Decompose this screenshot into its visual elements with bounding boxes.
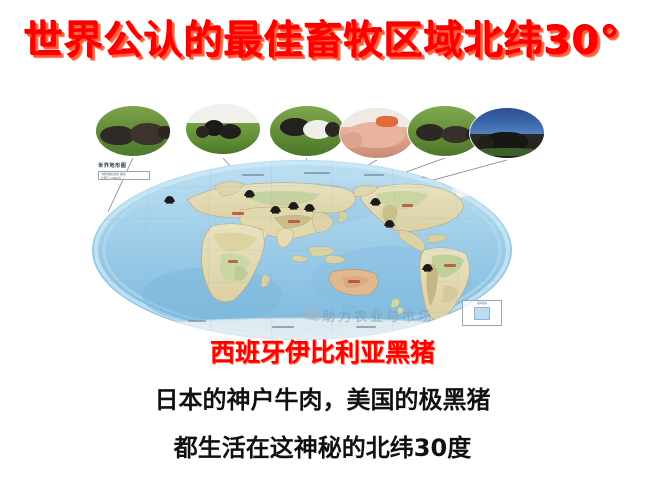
map-inset-graphic	[474, 307, 490, 320]
map-legend: 中国地图出版社 编制 比例尺 1:9000万	[98, 171, 150, 180]
map-caption: 世界地形图	[98, 162, 126, 169]
photo-pink-pig	[340, 108, 414, 158]
photo-foreground-shrub	[474, 148, 540, 156]
pig-head-shape	[344, 132, 362, 148]
pig-head-shape	[158, 126, 170, 139]
map-legend-line-2: 比例尺 1:9000万	[101, 177, 147, 181]
marker-asia-east-2-base	[290, 208, 297, 210]
pig-head-shape	[325, 122, 340, 137]
body-line-2: 日本的神户牛肉，美国的极黑猪	[0, 388, 645, 412]
marker-america-south-base	[424, 270, 431, 272]
pig-marking-shape	[376, 116, 398, 127]
marker-europe-central-base	[246, 196, 253, 198]
pig-body-shape	[100, 126, 134, 145]
pig-head-shape	[196, 126, 209, 138]
body-line-3: 都生活在这神秘的北纬30度	[0, 436, 645, 460]
marker-europe-west-base	[166, 202, 173, 204]
photo-pig-blue-sky	[470, 108, 544, 158]
watermark-text: 助力农业与市场	[322, 306, 434, 325]
photo-belted-pigs	[270, 106, 344, 156]
photo-black-piglets	[186, 104, 260, 154]
slide-root: 世界公认的最佳畜牧区域北纬30°	[0, 0, 645, 486]
wechat-icon	[302, 306, 319, 320]
marker-asia-east-3-base	[306, 210, 313, 212]
subtitle-red: 西班牙伊比利亚黑猪	[0, 340, 645, 365]
marker-asia-east-1-base	[272, 212, 279, 214]
world-map: 世界地形图 中国地图出版社 编制 比例尺 1:9000万 南海诸岛 助力农业与市…	[92, 160, 512, 340]
marker-america-north-base	[372, 204, 379, 206]
photo-black-pigs-pasture	[96, 106, 170, 156]
photo-strip	[0, 104, 645, 162]
page-title: 世界公认的最佳畜牧区域北纬30°	[0, 22, 645, 61]
map-inset-box: 南海诸岛	[462, 300, 502, 326]
pig-body-shape-2	[219, 124, 241, 139]
marker-america-central-base	[386, 226, 393, 228]
map-inset-title: 南海诸岛	[463, 302, 501, 306]
pig-body-shape	[416, 124, 444, 141]
